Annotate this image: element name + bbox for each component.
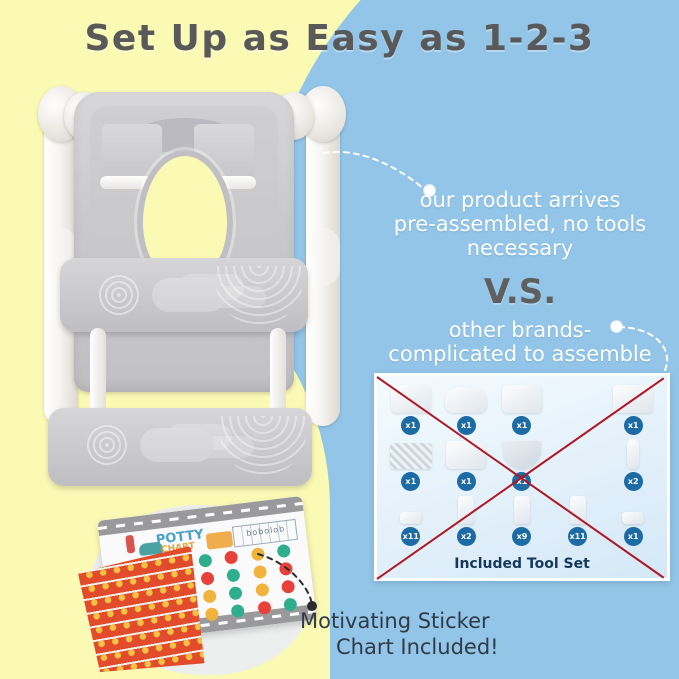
product-image-potty-ladder [18,78,348,498]
callout-pre-assembled: our product arrives pre-assembled, no to… [370,188,670,260]
callout-line-3: necessary [467,236,574,260]
swirl-texture [96,272,142,318]
tool-panel-caption: Included Tool Set [377,556,667,572]
tool-qty-badge: x1 [624,527,643,546]
tool-item: x1 [383,437,439,492]
seat-body [74,92,294,392]
tool-item: x9 [494,493,550,548]
tool-item [550,437,606,492]
bear-face-panel-icon [445,387,487,413]
swirl-texture [84,422,130,468]
bottom-line-1: Motivating Sticker [300,609,490,633]
callout-line-2: complicated to assemble [388,342,651,366]
wave-texture [216,266,302,324]
flat-board-icon [502,385,542,413]
included-tool-set-panel: x1 x1 x1 x1 x1 x1 [374,373,670,581]
tool-item: x1 [494,382,550,437]
tool-qty-badge: x1 [512,416,531,435]
tool-qty-badge: x9 [512,527,531,546]
u-handle-icon [503,441,541,469]
tool-qty-badge: x2 [624,472,643,491]
bottom-line-2: Chart Included! [300,634,640,660]
sticker-dot [204,607,218,621]
tool-item: x1 [383,382,439,437]
tool-item [550,382,606,437]
sticker-dot [200,571,214,585]
upper-step [60,258,308,332]
frame-leg-icon [446,441,486,469]
lower-step [48,408,312,486]
sticker-dot [229,586,243,600]
connector-line-sticker [256,548,336,614]
sticker-dot [198,553,212,567]
sticker-dot [202,589,216,603]
cloud-texture [152,278,226,312]
mesh-panel-icon [390,443,432,469]
callout-line-2: pre-assembled, no tools [394,212,646,236]
crane-truck-icon [206,531,234,550]
tool-qty-badge: x1 [624,416,643,435]
tool-item: x1 [605,493,661,548]
tool-qty-badge: x1 [457,416,476,435]
tool-qty-badge: x1 [457,472,476,491]
product-infographic: Set Up as Easy as 1-2-3 [0,0,679,679]
page-title: Set Up as Easy as 1-2-3 [0,18,679,59]
callout-sticker-chart: Motivating Sticker Chart Included! [300,608,640,661]
tool-item: x11 [550,493,606,548]
sticker-dot [231,604,245,618]
sticker-dot [224,550,238,564]
tool-item: x1 [605,382,661,437]
tool-qty-badge: x1 [401,472,420,491]
tool-item: x2 [605,437,661,492]
tool-qty-badge: x11 [401,527,420,546]
long-rods-icon [627,439,639,469]
sticker-dot [226,568,240,582]
cloud-texture [140,428,214,462]
right-rail-segment [306,228,340,286]
tool-qty-badge: x11 [568,527,587,546]
tool-qty-badge: x1 [401,416,420,435]
bolt-icon [514,496,530,524]
traffic-light-icon [125,535,135,554]
tool-item: x1 [439,437,495,492]
callout-line-1: our product arrives [420,188,621,212]
versus-label: V.S. [370,272,670,312]
tool-qty-badge: x2 [457,527,476,546]
small-pin-icon [400,512,422,524]
wave-texture [220,416,306,474]
cover-plate-icon [622,512,644,524]
tool-item: x1 [439,382,495,437]
callout-line-1: other brands- [449,318,592,342]
